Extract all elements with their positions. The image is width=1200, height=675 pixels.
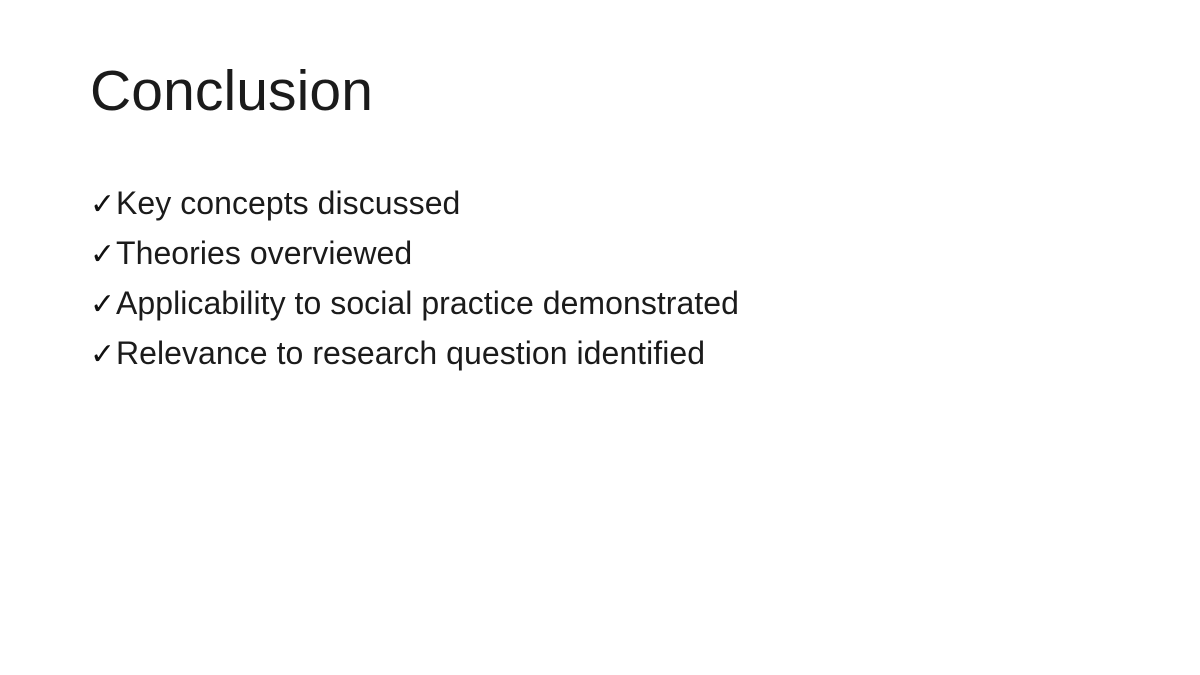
list-item-label: Key concepts discussed (116, 178, 460, 228)
list-item: ✓ Theories overviewed (90, 228, 1110, 278)
list-item: ✓ Key concepts discussed (90, 178, 1110, 228)
list-item-label: Applicability to social practice demonst… (116, 278, 739, 328)
check-mark-icon: ✓ (90, 330, 116, 380)
list-item-label: Relevance to research question identifie… (116, 328, 705, 378)
bullet-list: ✓ Key concepts discussed ✓ Theories over… (90, 178, 1110, 378)
presentation-slide: Conclusion ✓ Key concepts discussed ✓ Th… (0, 0, 1200, 675)
check-mark-icon: ✓ (90, 230, 116, 280)
list-item: ✓ Applicability to social practice demon… (90, 278, 1110, 328)
check-mark-icon: ✓ (90, 280, 116, 330)
list-item: ✓ Relevance to research question identif… (90, 328, 1110, 378)
list-item-label: Theories overviewed (116, 228, 412, 278)
check-mark-icon: ✓ (90, 180, 116, 230)
page-title: Conclusion (90, 62, 373, 122)
